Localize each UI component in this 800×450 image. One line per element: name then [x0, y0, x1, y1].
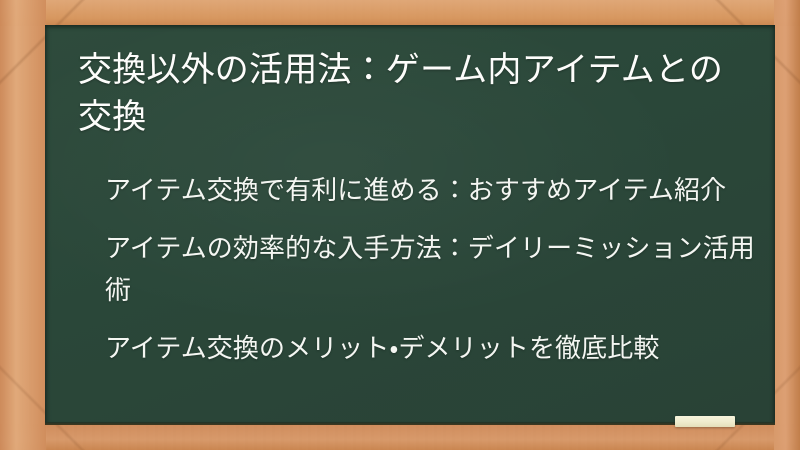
frame-bottom-rail	[0, 424, 800, 450]
list-item: アイテム交換のメリット・デメリットを徹底比較	[105, 327, 775, 369]
chalkboard-content: 交換以外の活用法：ゲーム内アイテムとの交換 アイテム交換で有利に進める：おすすめ…	[45, 25, 775, 425]
list-item: アイテム交換で有利に進める：おすすめアイテム紹介	[105, 169, 775, 211]
frame-top-rail	[0, 0, 800, 26]
blackboard-thumbnail: 交換以外の活用法：ゲーム内アイテムとの交換 アイテム交換で有利に進める：おすすめ…	[0, 0, 800, 450]
frame-right-rail	[774, 0, 800, 450]
board-title: 交換以外の活用法：ゲーム内アイテムとの交換	[78, 47, 750, 141]
chalkboard-surface: 交換以外の活用法：ゲーム内アイテムとの交換 アイテム交換で有利に進める：おすすめ…	[45, 25, 775, 425]
list-item: アイテムの効率的な入手方法：デイリーミッション活用術	[105, 227, 775, 311]
chalk-eraser-icon	[675, 416, 735, 427]
chalkboard-bottom-edge	[45, 422, 775, 425]
frame-left-rail	[0, 0, 46, 450]
board-topic-list: アイテム交換で有利に進める：おすすめアイテム紹介 アイテムの効率的な入手方法：デ…	[105, 169, 775, 369]
